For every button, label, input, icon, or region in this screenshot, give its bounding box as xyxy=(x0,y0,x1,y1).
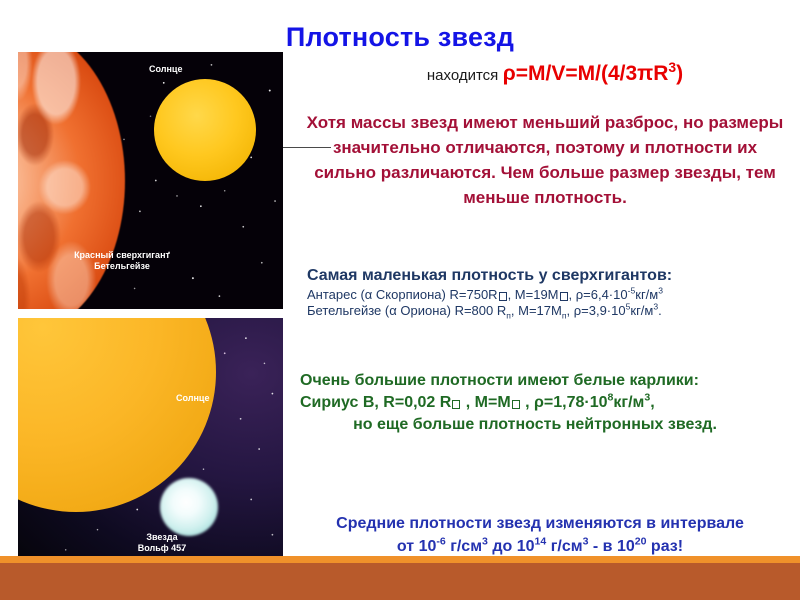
sirius-b-radius: Сириус B, R=0,02 R xyxy=(300,394,451,411)
formula-expression-prefix: ρ=M/V=M/(4/3πR xyxy=(503,62,669,85)
image-top-label-supergiant: Красный сверхгигант Бетельгейзе xyxy=(62,250,182,272)
white-dwarfs-block: Очень большие плотности имеют белые карл… xyxy=(300,370,770,436)
solar-symbol-subscript-icon xyxy=(499,292,507,301)
sirius-b-density-unit: кг/м xyxy=(613,394,644,411)
image-top-label-supergiant-line2: Бетельгейзе xyxy=(94,261,150,271)
solar-symbol-subscript-icon xyxy=(452,400,460,409)
range-from-exponent: -6 xyxy=(436,536,445,548)
sirius-b-details: Сириус B, R=0,02 R , M=M , ρ=1,78·108кг/… xyxy=(300,392,770,414)
range-factor-suffix: раз! xyxy=(646,538,683,555)
image-bottom-label-dwarf-line1: Звезда xyxy=(146,532,177,542)
supergiants-heading: Самая маленькая плотность у сверхгиганто… xyxy=(307,266,787,286)
supergiant-row-betelgeuse: Бетельгейзе (α Ориона) R=800 Rп, M=17Mп,… xyxy=(307,303,787,319)
range-to: до 10 xyxy=(488,538,535,555)
sirius-b-density: , ρ=1,78·10 xyxy=(521,394,608,411)
range-to-exponent: 14 xyxy=(535,536,547,548)
page-title: Плотность звезд xyxy=(0,22,800,53)
antares-density-unit-exponent: 3 xyxy=(658,286,663,296)
density-formula-line: находится ρ=M/V=M/(4/3πR3) xyxy=(320,62,790,86)
solar-symbol-subscript-icon xyxy=(560,292,568,301)
image-top-label-sun: Солнце xyxy=(149,64,182,74)
supergiant-row-antares: Антарес (α Скорпиона) R=750R, M=19M, ρ=6… xyxy=(307,287,787,303)
supergiants-block: Самая маленькая плотность у сверхгиганто… xyxy=(307,266,787,319)
neutron-stars-note: но еще больше плотность нейтронных звезд… xyxy=(300,414,770,436)
antares-mass: M=19M xyxy=(515,287,559,302)
image-bottom-label-dwarf: Звезда Вольф 457 xyxy=(110,532,214,554)
sirius-b-mass: , M=M xyxy=(461,394,510,411)
range-from: от 10 xyxy=(397,538,436,555)
betelgeuse-density: ρ=3,9·10 xyxy=(574,303,626,318)
betelgeuse-sep2: , xyxy=(567,303,574,318)
sun-disc-shape xyxy=(154,79,256,181)
white-dwarf-shape xyxy=(160,478,218,536)
betelgeuse-density-unit: кг/м xyxy=(630,303,653,318)
solar-symbol-subscript-icon xyxy=(512,400,520,409)
betelgeuse-radius: R=800 R xyxy=(455,303,507,318)
density-range-block: Средние плотности звезд изменяются в инт… xyxy=(290,512,790,558)
image-bottom-label-sun: Солнце xyxy=(176,393,209,403)
antares-sep2: , xyxy=(569,287,576,302)
antares-radius: R=750R xyxy=(450,287,498,302)
image-top-label-supergiant-line1: Красный сверхгигант xyxy=(74,250,170,260)
betelgeuse-mass: M=17M xyxy=(518,303,562,318)
antares-density-unit: кг/м xyxy=(635,287,658,302)
betelgeuse-trailing: . xyxy=(658,303,662,318)
formula-exponent: 3 xyxy=(668,59,676,75)
range-factor: - в 10 xyxy=(588,538,634,555)
image-bottom-label-dwarf-line2: Вольф 457 xyxy=(138,543,186,553)
formula-lead-text: находится xyxy=(427,67,498,84)
betelgeuse-name: Бетельгейзе (α Ориона) xyxy=(307,303,451,318)
image-sun-vs-wolf457: Солнце Звезда Вольф 457 xyxy=(18,318,283,570)
white-dwarfs-heading: Очень большие плотности имеют белые карл… xyxy=(300,372,699,389)
footer-bar-sienna xyxy=(0,563,800,600)
density-range-line1: Средние плотности звезд изменяются в инт… xyxy=(290,512,790,535)
antares-sep1: , xyxy=(508,287,515,302)
paragraph-mass-vs-size: Хотя массы звезд имеют меньший разброс, … xyxy=(300,110,790,210)
density-formula: ρ=M/V=M/(4/3πR3) xyxy=(503,62,683,85)
range-factor-exponent: 20 xyxy=(635,536,647,548)
range-from-unit: г/см xyxy=(446,538,482,555)
antares-density: ρ=6,4·10 xyxy=(576,287,628,302)
density-range-line2: от 10-6 г/см3 до 1014 г/см3 - в 1020 раз… xyxy=(290,535,790,558)
antares-name: Антарес (α Скорпиона) xyxy=(307,287,446,302)
image-betelgeuse-vs-sun: Солнце Красный сверхгигант Бетельгейзе xyxy=(18,52,283,309)
footer-bar-orange xyxy=(0,556,800,563)
range-to-unit: г/см xyxy=(546,538,582,555)
sirius-b-trailing: , xyxy=(650,394,654,411)
formula-expression-suffix: ) xyxy=(676,62,683,85)
